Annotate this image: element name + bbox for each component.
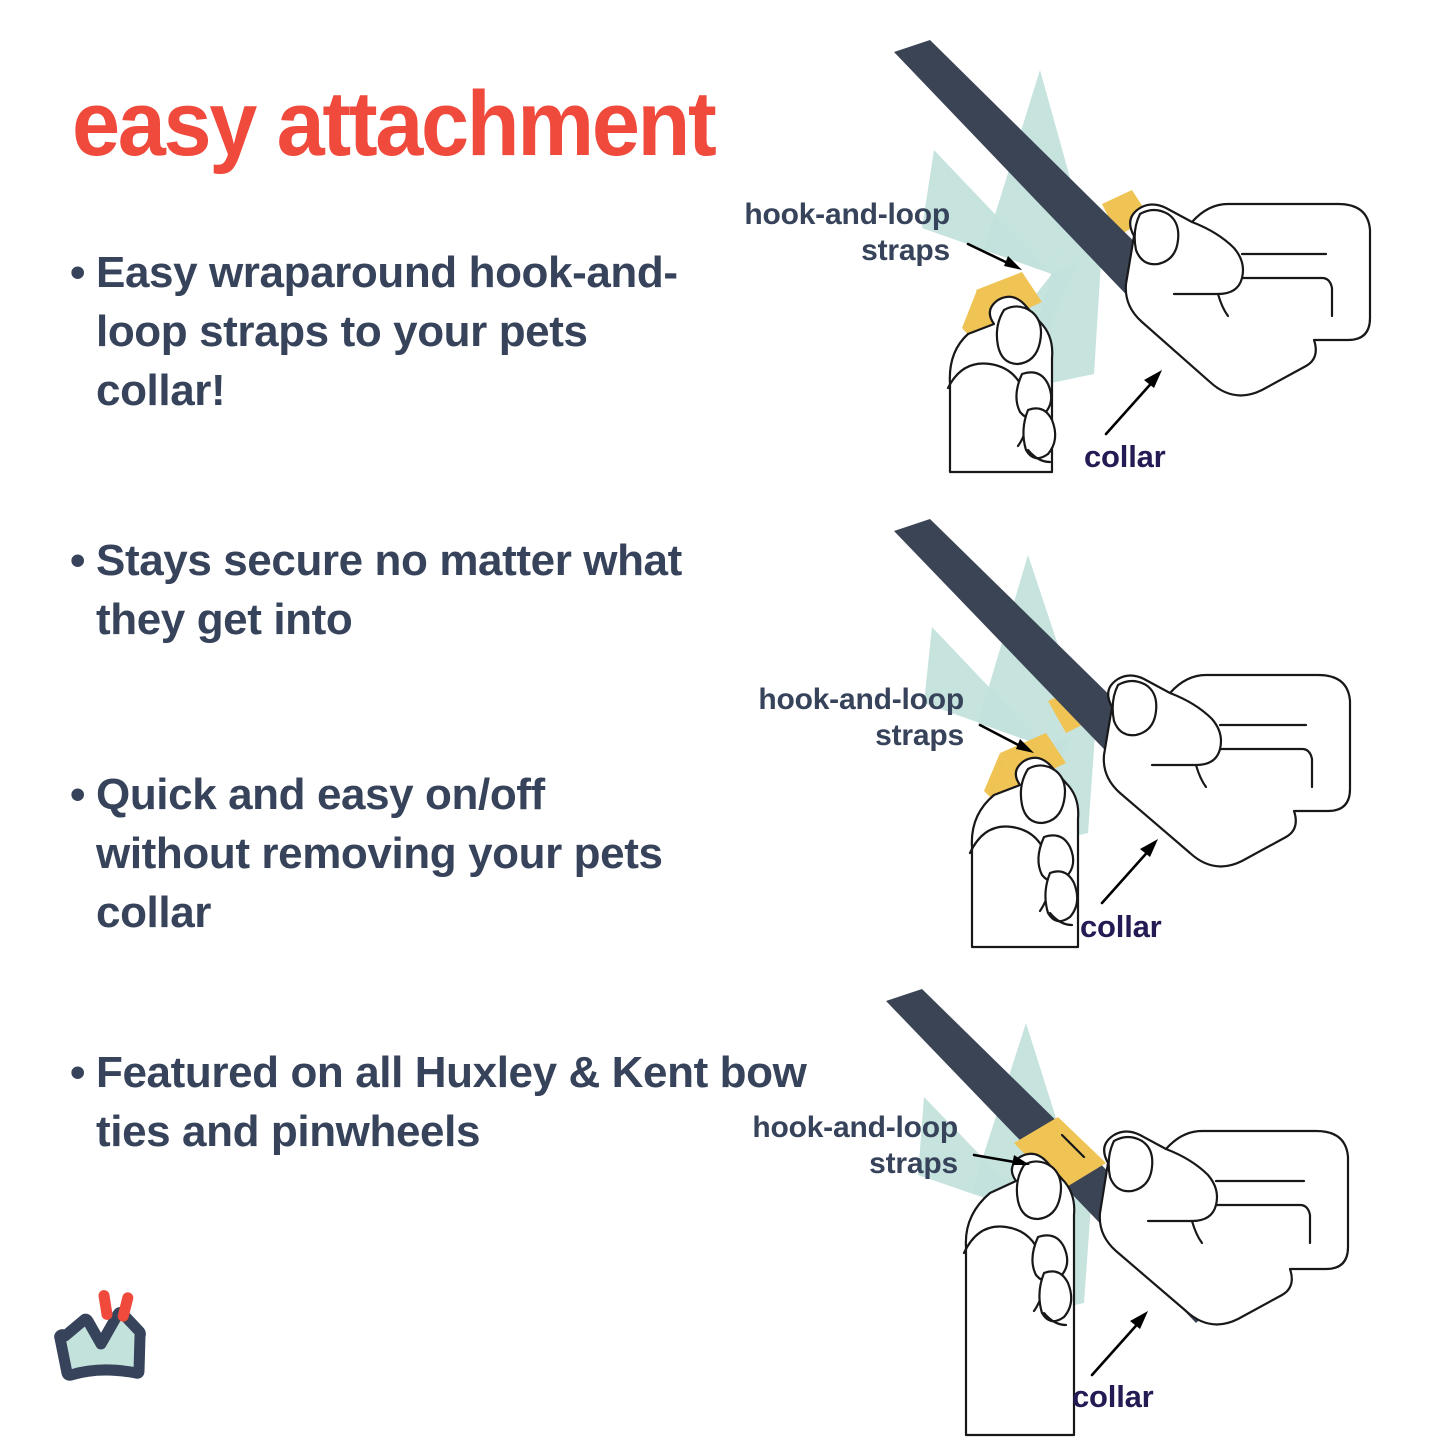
strap-label-line-2: straps — [861, 234, 950, 267]
right-hand-illustration — [1126, 204, 1370, 395]
bullet-marker-icon: • — [70, 244, 96, 303]
right-hand-illustration — [1100, 1131, 1348, 1324]
collar-leader-arrow — [1106, 370, 1162, 434]
page-title: easy attachment — [72, 78, 714, 170]
bullet-marker-icon: • — [70, 766, 96, 825]
list-item-label: Stays secure no matter what they get int… — [96, 532, 710, 650]
collar-label: collar — [1084, 439, 1166, 474]
illustration-step-1: hook-and-loop straps collar — [722, 22, 1442, 492]
list-item-label: Easy wraparound hook-and-loop straps to … — [96, 244, 710, 421]
bullet-marker-icon: • — [70, 532, 96, 591]
right-hand-illustration — [1104, 675, 1350, 866]
strap-label-line-2: straps — [875, 719, 964, 752]
crown-spark-left-icon — [98, 1289, 114, 1320]
strap-label-line-2: straps — [869, 1147, 958, 1180]
list-item-label: Quick and easy on/off without removing y… — [96, 766, 690, 943]
collar-leader-arrow — [1092, 1311, 1148, 1375]
crown-logo — [40, 1278, 180, 1418]
strap-label-line-1: hook-and-loop — [752, 1111, 958, 1144]
illustration-step-2: hook-and-loop straps collar — [728, 497, 1445, 967]
collar-leader-arrow — [1102, 839, 1158, 903]
bullet-marker-icon: • — [70, 1044, 96, 1103]
list-item: • Easy wraparound hook-and-loop straps t… — [70, 244, 710, 421]
list-item: • Stays secure no matter what they get i… — [70, 532, 710, 650]
list-item: • Quick and easy on/off without removing… — [70, 766, 690, 943]
collar-label: collar — [1080, 909, 1162, 944]
illustration-step-3: hook-and-loop straps collar — [728, 985, 1445, 1455]
strap-label-line-1: hook-and-loop — [758, 683, 964, 716]
strap-label-line-1: hook-and-loop — [744, 198, 950, 231]
collar-label: collar — [1072, 1379, 1154, 1414]
